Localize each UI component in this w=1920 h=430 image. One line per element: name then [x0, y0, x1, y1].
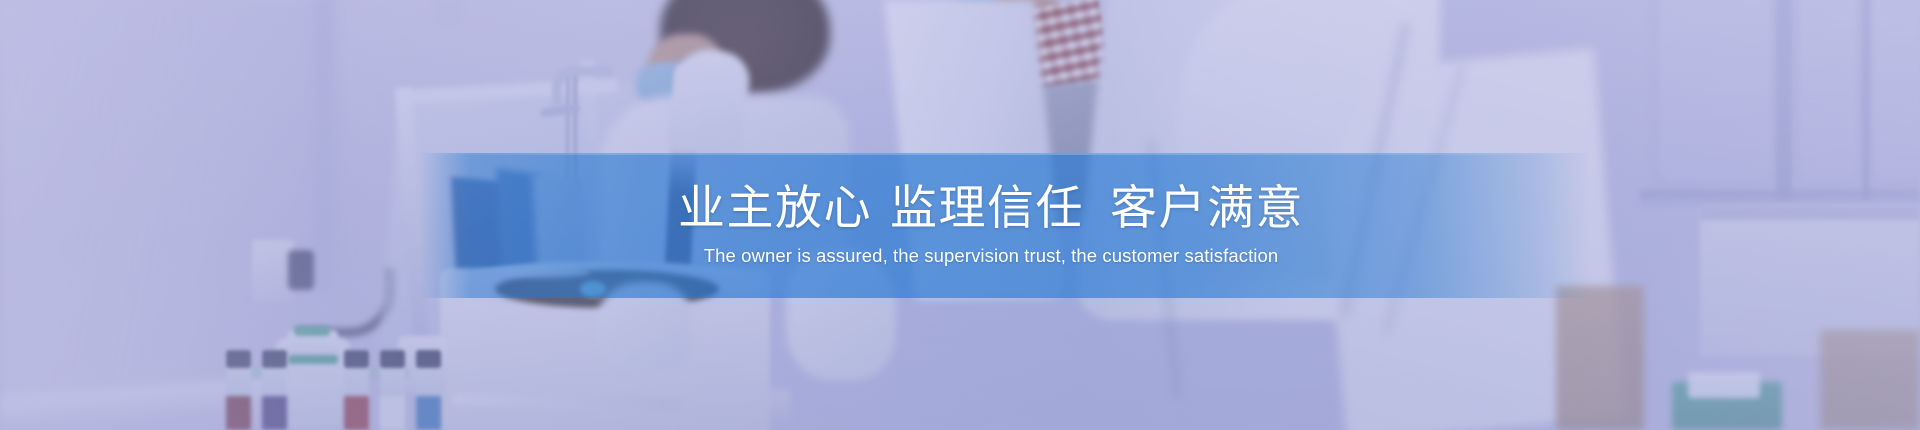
banner-copy: 业主放心监理信任客户满意 The owner is assured, the s…	[0, 153, 1920, 298]
banner-headline: 业主放心监理信任客户满意	[678, 184, 1304, 233]
headline-phrase-2: 监理信任	[890, 181, 1084, 234]
hero-banner: 业主放心监理信任客户满意 The owner is assured, the s…	[0, 0, 1920, 430]
headline-phrase-3: 客户满意	[1110, 181, 1304, 234]
banner-subtitle: The owner is assured, the supervision tr…	[704, 245, 1279, 267]
headline-phrase-1: 业主放心	[678, 181, 872, 234]
